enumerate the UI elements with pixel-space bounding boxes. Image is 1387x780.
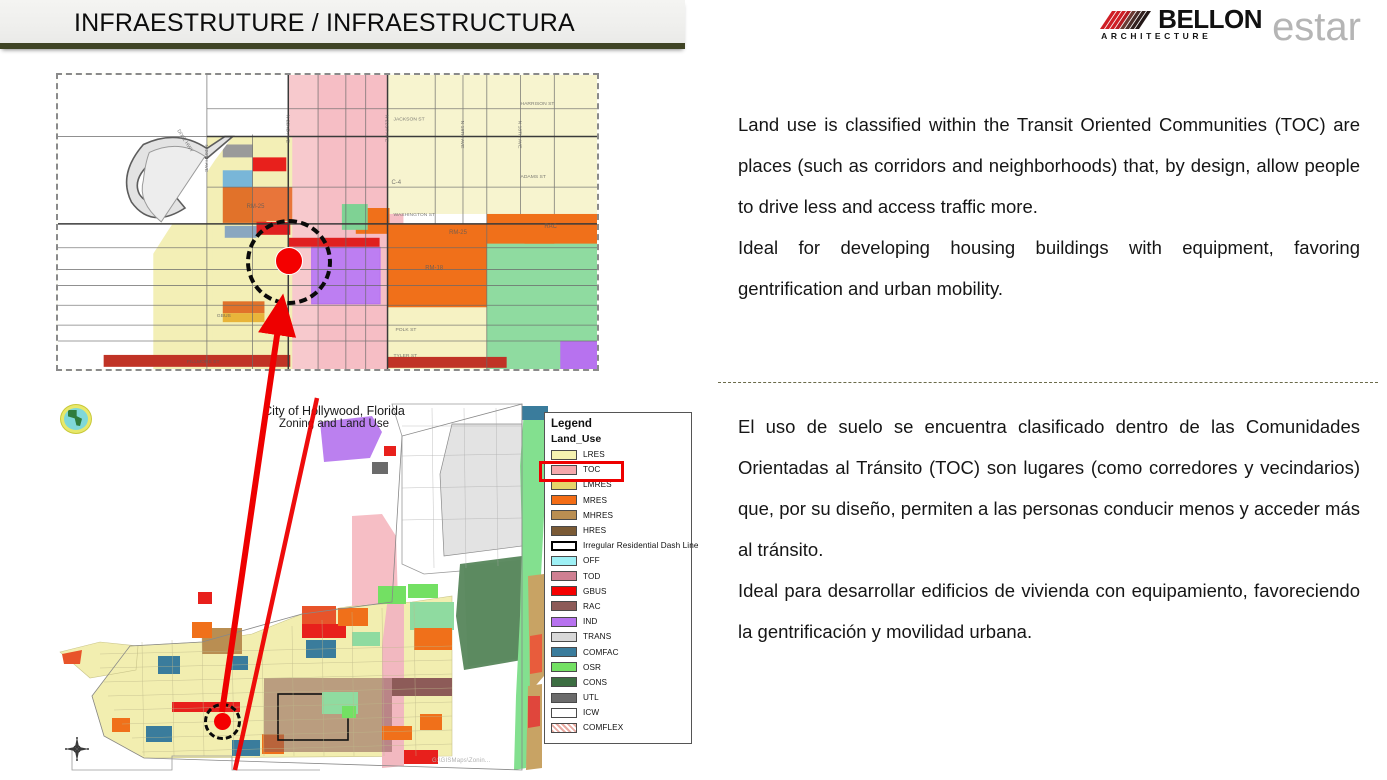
overview-site-marker[interactable] [214, 713, 231, 730]
legend-swatch [551, 677, 577, 687]
svg-text:JACKSON ST: JACKSON ST [394, 117, 425, 123]
legend-label: LMRES [583, 480, 612, 489]
legend-label: COMFAC [583, 648, 619, 657]
legend-item: TOD [551, 569, 685, 584]
legend-item: UTL [551, 690, 685, 705]
legend-label: GBUS [583, 587, 607, 596]
svg-text:RAC: RAC [544, 224, 557, 230]
legend-label: TRANS [583, 632, 611, 641]
slide-header-bar: INFRAESTRUTURE / INFRAESTRUCTURA [0, 0, 685, 49]
map-legend: Legend Land_Use LRESTOCLMRESMRESMHRESHRE… [544, 412, 692, 744]
legend-item: MRES [551, 493, 685, 508]
svg-text:RM-18: RM-18 [425, 266, 444, 272]
logo-sub-text: ARCHITECTURE [1101, 31, 1211, 41]
spanish-text-block: El uso de suelo se encuentra clasificado… [738, 406, 1360, 652]
legend-swatch [551, 510, 577, 520]
svg-text:GBUS: GBUS [217, 313, 232, 319]
legend-swatch [551, 556, 577, 566]
legend-swatch [551, 647, 577, 657]
legend-swatch [551, 708, 577, 718]
english-paragraph-2: Ideal for developing housing buildings w… [738, 227, 1360, 309]
svg-text:FILLMORE ST: FILLMORE ST [187, 359, 219, 365]
legend-label: ICW [583, 708, 599, 717]
legend-label: MHRES [583, 511, 613, 520]
legend-label: LRES [583, 450, 605, 459]
legend-swatch [551, 632, 577, 642]
english-paragraph-1: Land use is classified within the Transi… [738, 104, 1360, 227]
compass-rose-icon [64, 736, 90, 762]
city-of-hollywood-seal [60, 404, 92, 434]
legend-item: COMFAC [551, 644, 685, 659]
legend-label: OFF [583, 556, 600, 565]
svg-text:N 19TH AVE: N 19TH AVE [459, 121, 465, 149]
svg-text:RM-25: RM-25 [449, 230, 468, 236]
section-divider [718, 382, 1378, 383]
legend-item: GBUS [551, 584, 685, 599]
legend-swatch [551, 495, 577, 505]
legend-swatch [551, 526, 577, 536]
overview-map-title: City of Hollywood, Florida [219, 404, 449, 418]
legend-label: Irregular Residential Dash Line [583, 541, 699, 550]
detail-site-marker[interactable] [275, 247, 303, 275]
detail-map-graphic: JACKSON ST WASHINGTON ST HARRISON ST ADA… [58, 75, 597, 371]
legend-swatch [551, 617, 577, 627]
svg-text:TYLER ST: TYLER ST [394, 353, 418, 359]
legend-group-label: Land_Use [551, 433, 685, 445]
legend-label: TOC [583, 465, 600, 474]
svg-text:HARRISON ST: HARRISON ST [521, 101, 555, 107]
legend-swatch [551, 601, 577, 611]
legend-label: TOD [583, 572, 600, 581]
legend-item: OSR [551, 660, 685, 675]
legend-swatch [551, 662, 577, 672]
logo-brand-text: BELLON [1158, 9, 1262, 30]
spanish-paragraph-2: Ideal para desarrollar edificios de vivi… [738, 570, 1360, 652]
legend-item: MHRES [551, 508, 685, 523]
svg-text:RM-25: RM-25 [247, 204, 266, 210]
legend-swatch [551, 465, 577, 475]
legend-swatch [551, 693, 577, 703]
legend-label: RAC [583, 602, 601, 611]
legend-swatch [551, 480, 577, 490]
svg-text:N 18TH AVE: N 18TH AVE [517, 121, 523, 149]
legend-item: OFF [551, 553, 685, 568]
svg-text:WASHINGTON ST: WASHINGTON ST [394, 212, 436, 218]
legend-item: ICW [551, 705, 685, 720]
legend-swatch [551, 586, 577, 596]
legend-title: Legend [551, 418, 685, 430]
legend-item: TOC [551, 462, 685, 477]
legend-item: HRES [551, 523, 685, 538]
legend-item: COMFLEX [551, 720, 685, 735]
spanish-paragraph-1: El uso de suelo se encuentra clasificado… [738, 406, 1360, 570]
legend-item: LRES [551, 447, 685, 462]
legend-label: CONS [583, 678, 607, 687]
legend-item: Irregular Residential Dash Line [551, 538, 685, 553]
slide-root: INFRAESTRUTURE / INFRAESTRUCTURA [0, 0, 1387, 780]
page-title: INFRAESTRUTURE / INFRAESTRUCTURA [74, 9, 575, 38]
legend-item: IND [551, 614, 685, 629]
svg-text:N 26TH AVE: N 26TH AVE [203, 144, 209, 172]
legend-swatch [551, 541, 577, 551]
overview-map-subtitle: Zoning and Land Use [219, 418, 449, 431]
legend-swatch [551, 450, 577, 460]
legend-label: MRES [583, 496, 607, 505]
legend-item: CONS [551, 675, 685, 690]
legend-item: RAC [551, 599, 685, 614]
legend-item-list: LRESTOCLMRESMRESMHRESHRESIrregular Resid… [551, 447, 685, 736]
svg-text:N 21ST AVE: N 21ST AVE [384, 115, 390, 143]
svg-text:ADAMS ST: ADAMS ST [521, 174, 546, 180]
legend-item: TRANS [551, 629, 685, 644]
legend-swatch [551, 571, 577, 581]
zoning-detail-map[interactable]: JACKSON ST WASHINGTON ST HARRISON ST ADA… [56, 73, 599, 371]
map-attribution: G:\GISMaps\Zonin... [432, 758, 491, 764]
legend-item: LMRES [551, 477, 685, 492]
bellon-roof-mark-icon [1098, 9, 1156, 30]
brand-logo: BELLON ARCHITECTURE estar [1098, 8, 1361, 48]
legend-label: OSR [583, 663, 601, 672]
legend-label: UTL [583, 693, 599, 702]
english-text-block: Land use is classified within the Transi… [738, 104, 1360, 309]
legend-label: HRES [583, 526, 606, 535]
svg-text:C-4: C-4 [392, 180, 402, 186]
svg-text:POLK ST: POLK ST [395, 327, 416, 333]
svg-text:N 22ND AVE: N 22ND AVE [284, 115, 290, 144]
logo-suffix-text: estar [1272, 8, 1361, 46]
legend-label: IND [583, 617, 597, 626]
legend-label: COMFLEX [583, 723, 623, 732]
legend-swatch [551, 723, 577, 733]
